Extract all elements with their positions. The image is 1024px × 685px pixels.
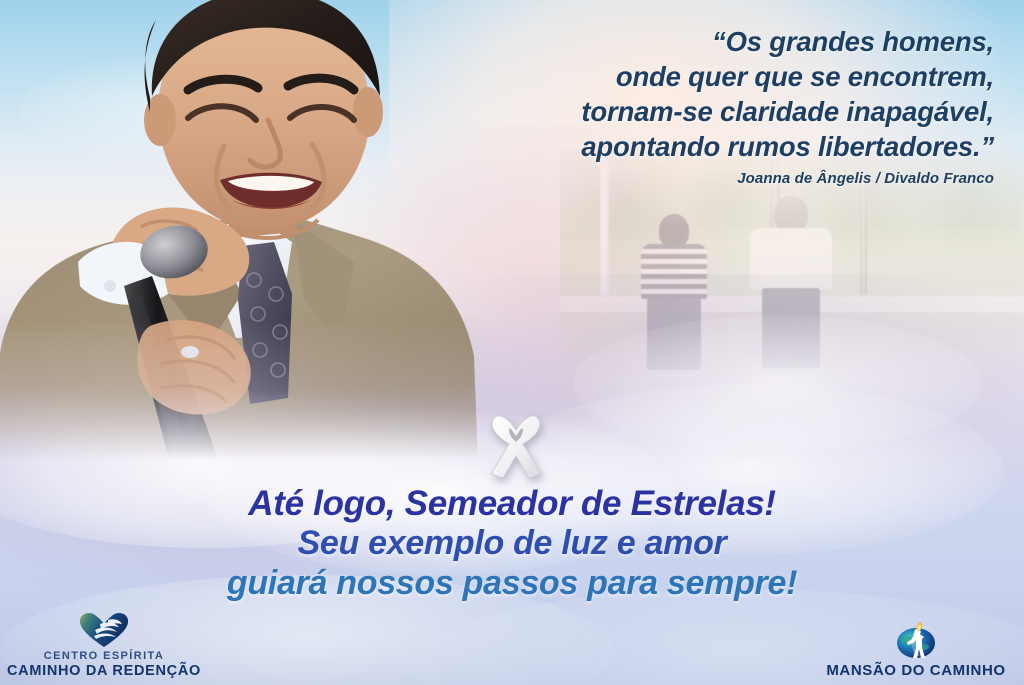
person-striped-shirt (638, 214, 710, 400)
logo-centro-espirita: CENTRO ESPÍRITA CAMINHO DA REDENÇÃO (6, 610, 202, 679)
memorial-poster: “Os grandes homens, onde quer que se enc… (0, 0, 1024, 685)
quote-line-4: apontando rumos libertadores.” (354, 129, 994, 164)
person-torso (641, 244, 707, 300)
quote-line-3: tornam-se claridade inapagável, (354, 94, 994, 129)
person-legs (647, 298, 701, 370)
two-people-walking-away-photo (560, 150, 1024, 440)
logo-right-line-1: MANSÃO DO CAMINHO (816, 662, 1016, 679)
globe-figure-torch-icon (816, 620, 1016, 660)
person-legs (762, 288, 820, 368)
logo-mansao-do-caminho: MANSÃO DO CAMINHO (816, 620, 1016, 679)
logo-left-line-1: CENTRO ESPÍRITA (6, 650, 202, 663)
logo-left-line-2: CAMINHO DA REDENÇÃO (6, 663, 202, 679)
headline-line-1: Até logo, Semeador de Estrelas! (0, 486, 1024, 521)
person-head (659, 214, 689, 248)
quote-line-1: “Os grandes homens, (354, 24, 994, 59)
person-torso (750, 228, 832, 290)
quote-line-2: onde quer que se encontrem, (354, 59, 994, 94)
heart-hands-icon (6, 610, 202, 650)
quote-text: “Os grandes homens, onde quer que se enc… (354, 24, 994, 164)
ring (181, 346, 199, 358)
headline-block: Até logo, Semeador de Estrelas! Seu exem… (0, 486, 1024, 601)
person-head (774, 196, 808, 232)
person-light-shirt (748, 196, 834, 399)
headline-line-2: Seu exemplo de luz e amor (0, 526, 1024, 561)
quote-attribution: Joanna de Ângelis / Divaldo Franco (354, 170, 994, 187)
headline-line-3: guiará nossos passos para sempre! (0, 566, 1024, 601)
cuff-button (104, 280, 116, 292)
white-awareness-ribbon-icon (485, 408, 547, 480)
